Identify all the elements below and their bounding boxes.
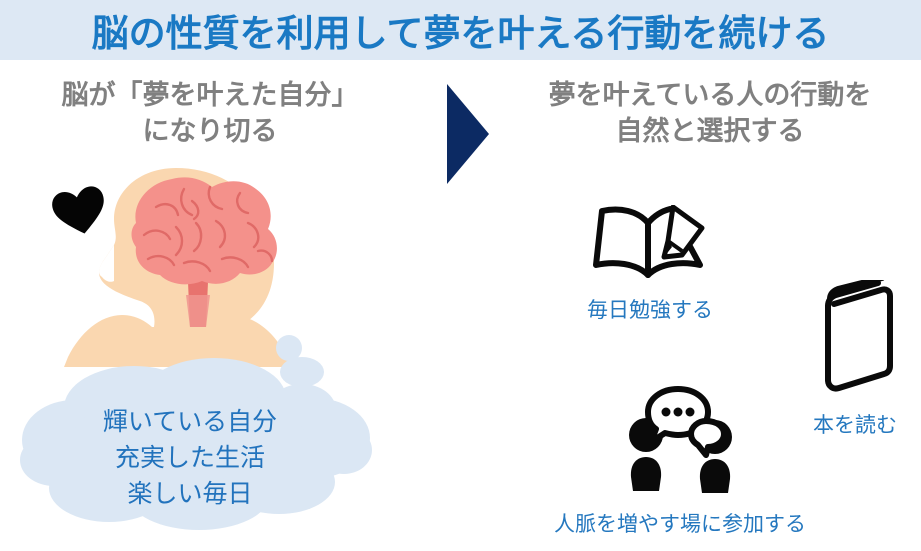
left-panel-heading: 脳が「夢を叶えた自分」 になり切る [10,78,410,149]
action-label-network: 人脈を増やす場に参加する [520,512,840,537]
action-item-network: 人脈を増やす場に参加する [520,385,840,537]
triangle-right-arrow-icon [447,84,489,184]
two-people-speech-bubble-icon [520,385,840,498]
closed-book-icon [790,280,920,401]
action-item-study: 毎日勉強する [545,205,755,323]
action-label-study: 毎日勉強する [545,298,755,323]
open-book-pencil-icon [545,205,755,286]
page-title: 脳の性質を利用して夢を叶える行動を続ける [0,0,921,60]
thought-cloud-text: 輝いている自分 充実した生活 楽しい毎日 [30,405,350,512]
right-panel-heading: 夢を叶えている人の行動を 自然と選択する [510,78,910,149]
